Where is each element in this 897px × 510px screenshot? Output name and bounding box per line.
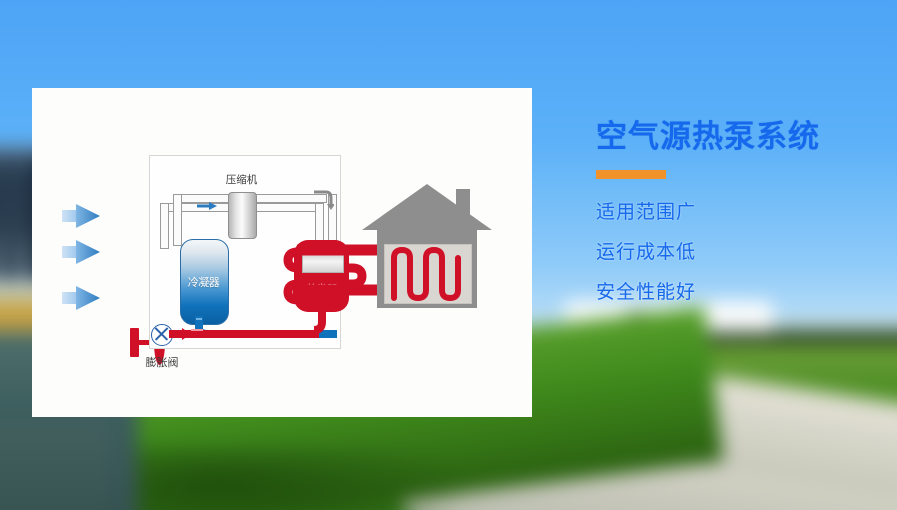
list-item: 安全性能好 [596, 283, 896, 302]
airflow-arrow-top [62, 204, 100, 228]
arrow-tail [62, 246, 78, 258]
flow-arrow-discharge-icon [312, 188, 334, 210]
list-item: 运行成本低 [596, 243, 896, 262]
diagram-card: 压缩机 冷凝器 膨胀阀 [32, 88, 532, 417]
liquid-line-hot [169, 326, 329, 346]
airflow-arrow-bottom [62, 286, 100, 310]
list-item: 适用范围广 [596, 203, 896, 222]
arrow-head [76, 286, 100, 310]
lake-water-foreground [0, 425, 107, 510]
arrow-head [76, 204, 100, 228]
feature-list: 适用范围广 运行成本低 安全性能好 [596, 203, 896, 302]
condenser-label: 冷凝器 [180, 274, 227, 290]
headline-column: 空气源热泵系统 适用范围广 运行成本低 安全性能好 [596, 120, 896, 323]
underfloor-heating-coil [384, 244, 472, 304]
arrow-tail [62, 210, 78, 222]
expansion-valve-label: 膨胀阀 [136, 354, 188, 370]
accent-bar [596, 170, 666, 179]
pipe-condenser-riser [160, 203, 169, 249]
arrow-tail [62, 292, 78, 304]
flow-arrow-compressor-inlet-icon [197, 201, 219, 212]
house-roof [362, 184, 492, 230]
compressor-label: 压缩机 [214, 172, 269, 187]
slide-canvas: 压缩机 冷凝器 膨胀阀 [0, 0, 897, 510]
pipe-left-outer-riser [173, 194, 182, 246]
airflow-arrow-middle [62, 240, 100, 264]
page-title: 空气源热泵系统 [596, 120, 896, 154]
pipe-compressor-inlet [160, 203, 232, 212]
compressor-unit [228, 192, 257, 239]
arrow-head [76, 240, 100, 264]
house-chimney [456, 189, 470, 227]
